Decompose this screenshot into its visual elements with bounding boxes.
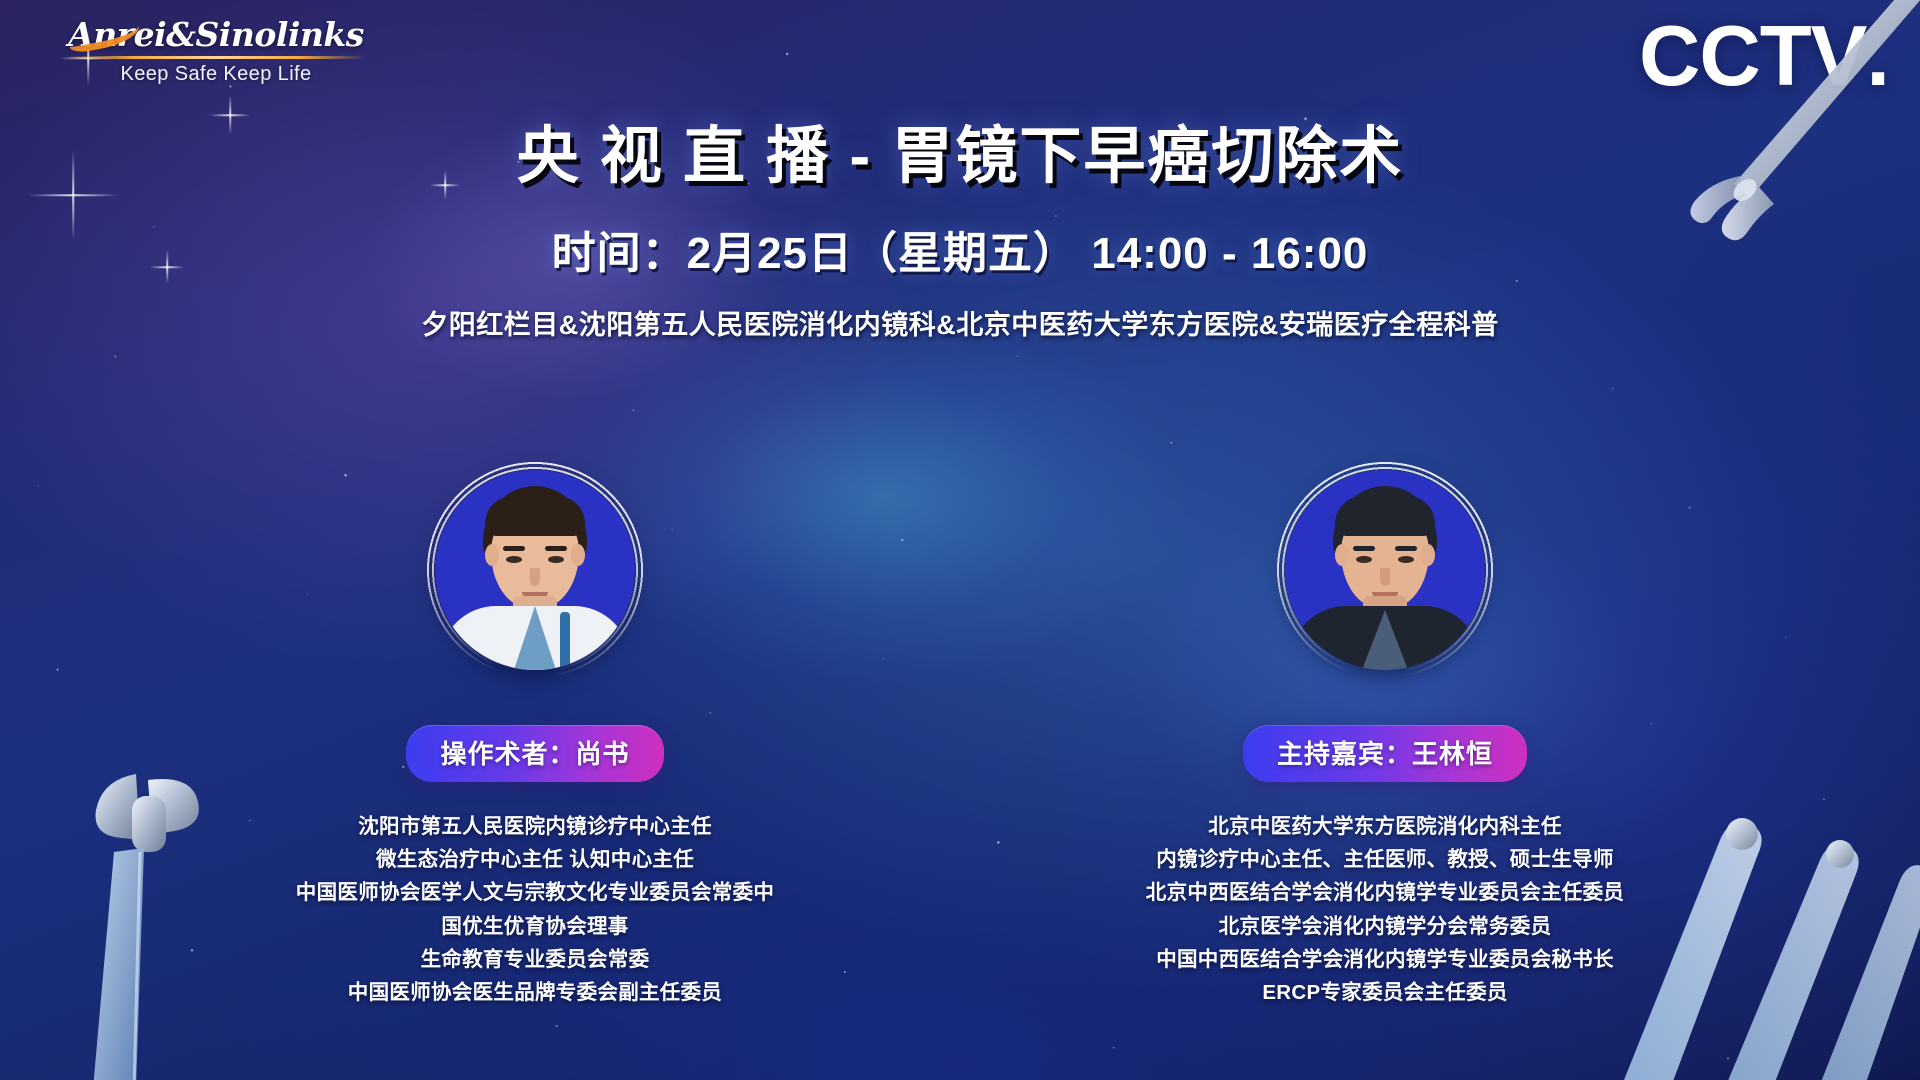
speaker-role-badge: 操作术者：尚书 — [406, 725, 663, 782]
speaker-card: 操作术者：尚书 沈阳市第五人民医院内镜诊疗中心主任 微生态治疗中心主任 认知中心… — [320, 470, 750, 1009]
speakers-section: 操作术者：尚书 沈阳市第五人民医院内镜诊疗中心主任 微生态治疗中心主任 认知中心… — [0, 470, 1920, 1009]
brand-tagline: Keep Safe Keep Life — [66, 63, 366, 86]
speaker-role-badge: 主持嘉宾：王林恒 — [1243, 725, 1527, 782]
avatar — [435, 470, 635, 670]
cctv-logo: CCTV. — [1639, 14, 1884, 99]
speaker-card: 主持嘉宾：王林恒 北京中医药大学东方医院消化内科主任 内镜诊疗中心主任、主任医师… — [1170, 470, 1600, 1009]
portrait-ear-right — [1421, 544, 1435, 566]
portrait-eye-left — [1356, 556, 1372, 563]
organizers-line: 夕阳红栏目&沈阳第五人民医院消化内镜科&北京中医药大学东方医院&安瑞医疗全程科普 — [0, 303, 1920, 342]
credential-line: 内镜诊疗中心主任、主任医师、教授、硕士生导师 — [1146, 843, 1624, 876]
portrait-brow-right — [545, 546, 567, 551]
avatar-photo-shang-shu — [435, 470, 635, 670]
portrait-ear-left — [485, 544, 499, 566]
credential-line: 微生态治疗中心主任 认知中心主任 — [296, 843, 774, 876]
portrait-eye-right — [1398, 556, 1414, 563]
portrait-eye-right — [548, 556, 564, 563]
credential-line: 生命教育专业委员会常委 — [296, 943, 774, 976]
avatar-photo-wang-lin-heng — [1285, 470, 1485, 670]
portrait-brow-left — [503, 546, 525, 551]
credential-line: ERCP专家委员会主任委员 — [1146, 976, 1624, 1009]
credential-line: 北京医学会消化内镜学分会常务委员 — [1146, 910, 1624, 943]
credential-line: 北京中医药大学东方医院消化内科主任 — [1146, 810, 1624, 843]
live-broadcast-poster: Anrei&Sinolinks Keep Safe Keep Life CCTV… — [0, 0, 1920, 1080]
credential-line: 中国中西医结合学会消化内镜学专业委员会秘书长 — [1146, 943, 1624, 976]
cctv-logo-dot: . — [1866, 9, 1884, 104]
portrait-nose — [1380, 568, 1390, 586]
credential-line: 国优生优育协会理事 — [296, 910, 774, 943]
credential-line: 沈阳市第五人民医院内镜诊疗中心主任 — [296, 810, 774, 843]
cctv-logo-text: CCTV — [1639, 9, 1866, 104]
speaker-credentials: 北京中医药大学东方医院消化内科主任 内镜诊疗中心主任、主任医师、教授、硕士生导师… — [1146, 810, 1624, 1009]
credential-line: 北京中西医结合学会消化内镜学专业委员会主任委员 — [1146, 876, 1624, 909]
portrait-eye-left — [506, 556, 522, 563]
portrait-brow-left — [1353, 546, 1375, 551]
portrait-lanyard — [560, 612, 570, 670]
portrait-fringe — [1335, 496, 1435, 536]
credential-line: 中国医师协会医生品牌专委会副主任委员 — [296, 976, 774, 1009]
title-block: 央 视 直 播 - 胃镜下早癌切除术 时间：2月25日（星期五） 14:00 -… — [0, 120, 1920, 342]
portrait-ear-left — [1335, 544, 1349, 566]
credential-line: 中国医师协会医学人文与宗教文化专业委员会常委中 — [296, 876, 774, 909]
portrait-ear-right — [571, 544, 585, 566]
avatar — [1285, 470, 1485, 670]
brand-divider — [67, 56, 365, 59]
speaker-credentials: 沈阳市第五人民医院内镜诊疗中心主任 微生态治疗中心主任 认知中心主任 中国医师协… — [296, 810, 774, 1009]
brand-logo: Anrei&Sinolinks Keep Safe Keep Life — [66, 18, 366, 86]
portrait-fringe — [485, 496, 585, 536]
portrait-nose — [530, 568, 540, 586]
broadcast-time: 时间：2月25日（星期五） 14:00 - 16:00 — [0, 217, 1920, 281]
portrait-brow-right — [1395, 546, 1417, 551]
page-title: 央 视 直 播 - 胃镜下早癌切除术 — [0, 120, 1920, 193]
